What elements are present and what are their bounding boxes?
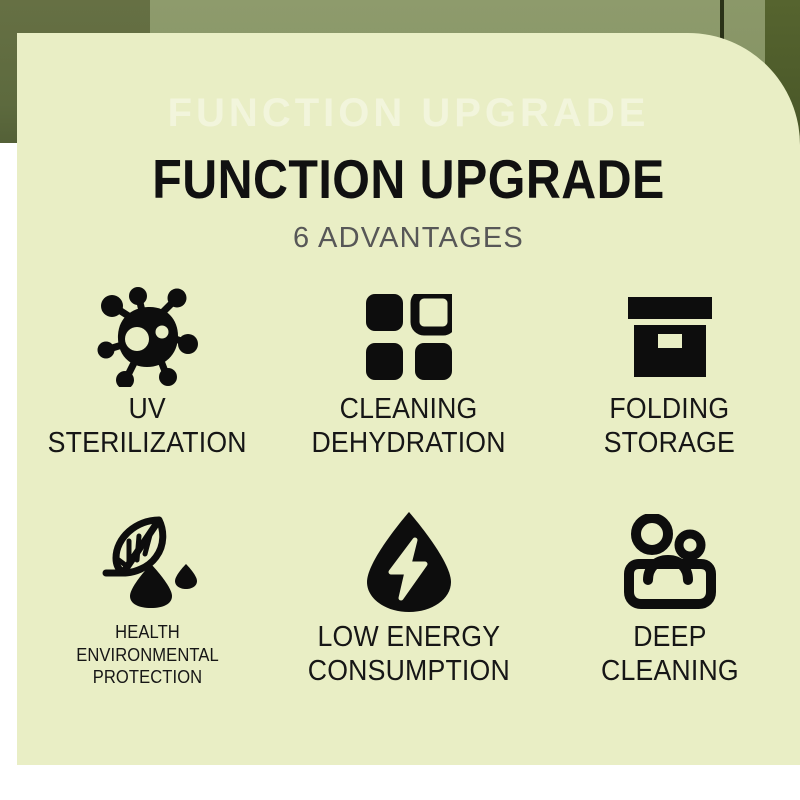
leaf-droplet-icon: [96, 503, 200, 621]
feature-label: CLEANING DEHYDRATION: [311, 393, 505, 461]
feature-label: DEEP CLEANING: [601, 621, 739, 689]
feature-card: FUNCTION UPGRADE FUNCTION UPGRADE 6 ADVA…: [17, 33, 800, 765]
feature-item-low-energy-consumption[interactable]: LOW ENERGY CONSUMPTION: [278, 503, 539, 725]
page-title: FUNCTION UPGRADE: [64, 147, 753, 211]
title-watermark: FUNCTION UPGRADE: [17, 91, 800, 136]
feature-item-cleaning-dehydration[interactable]: CLEANING DEHYDRATION: [278, 281, 539, 503]
feature-label: LOW ENERGY CONSUMPTION: [307, 621, 509, 689]
feature-grid: UV STERILIZATION CLEANING DEHYDRATION: [17, 281, 800, 725]
droplet-lightning-icon: [367, 503, 451, 621]
feature-label: UV STERILIZATION: [48, 393, 247, 461]
feature-item-folding-storage[interactable]: FOLDING STORAGE: [539, 281, 800, 503]
feature-label: HEALTH ENVIRONMENTAL PROTECTION: [27, 621, 267, 689]
feature-item-health-environmental-protection[interactable]: HEALTH ENVIRONMENTAL PROTECTION: [17, 503, 278, 725]
feature-label: FOLDING STORAGE: [604, 393, 735, 461]
soap-bubbles-icon: [620, 503, 720, 621]
feature-item-deep-cleaning[interactable]: DEEP CLEANING: [539, 503, 800, 725]
four-squares-grid-icon: [366, 281, 452, 393]
page-white-margin: [0, 143, 18, 800]
storage-box-icon: [628, 281, 712, 393]
page-subtitle: 6 ADVANTAGES: [17, 222, 800, 255]
poster-canvas: FUNCTION UPGRADE FUNCTION UPGRADE 6 ADVA…: [0, 0, 800, 800]
germ-virus-icon: [94, 281, 202, 393]
feature-item-uv-sterilization[interactable]: UV STERILIZATION: [17, 281, 278, 503]
